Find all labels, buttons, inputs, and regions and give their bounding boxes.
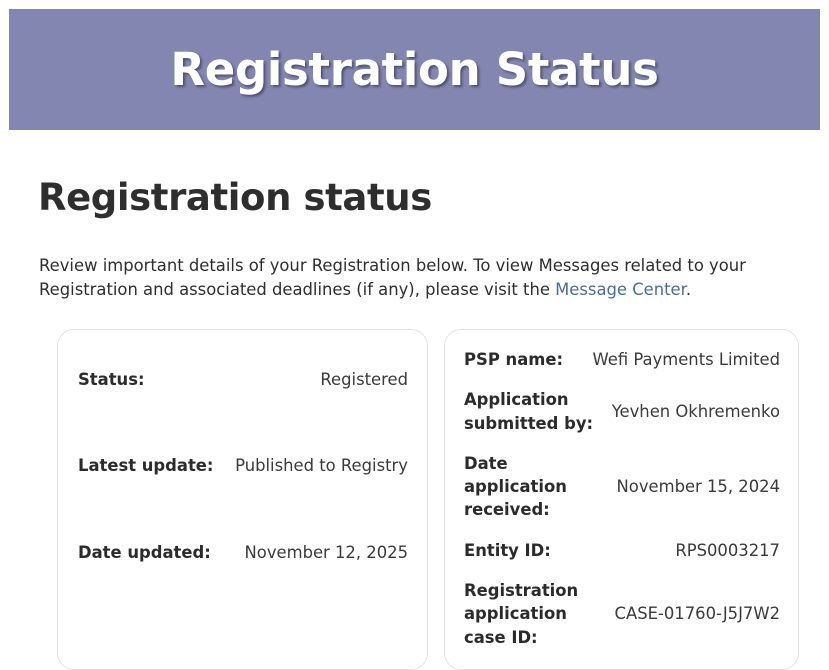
status-row: Status: Registered (78, 368, 408, 391)
date-updated-row-label: Date updated: (78, 541, 211, 564)
latest-update-row-label: Latest update: (78, 454, 213, 477)
page-title: Registration status (0, 130, 829, 219)
entity-id-row-label: Entity ID: (464, 539, 551, 562)
intro-text-after-link: . (686, 280, 691, 299)
page-banner: Registration Status (9, 9, 820, 130)
date-updated-row: Date updated: November 12, 2025 (78, 541, 408, 564)
page-content: Registration status Review important det… (0, 130, 829, 670)
registration-case-id-row-label: Registration application case ID: (464, 579, 601, 649)
latest-update-row: Latest update: Published to Registry (78, 454, 408, 477)
intro-paragraph: Review important details of your Registr… (0, 219, 829, 303)
date-application-received-row: Date application received: November 15, … (464, 452, 780, 522)
entity-id-row-value: RPS0003217 (675, 539, 780, 562)
details-card: PSP name: Wefi Payments Limited Applicat… (444, 329, 799, 670)
date-application-received-row-value: November 15, 2024 (617, 475, 780, 498)
banner-title: Registration Status (170, 47, 658, 92)
status-row-label: Status: (78, 368, 145, 391)
entity-id-row: Entity ID: RPS0003217 (464, 539, 780, 562)
psp-name-row-label: PSP name: (464, 348, 563, 371)
application-submitted-by-row-label: Application submitted by: (464, 388, 598, 435)
message-center-link[interactable]: Message Center (555, 280, 686, 299)
status-card: Status: Registered Latest update: Publis… (57, 329, 428, 670)
application-submitted-by-row: Application submitted by: Yevhen Okhreme… (464, 388, 780, 435)
psp-name-row: PSP name: Wefi Payments Limited (464, 348, 780, 371)
application-submitted-by-row-value: Yevhen Okhremenko (612, 400, 780, 423)
psp-name-row-value: Wefi Payments Limited (593, 348, 781, 371)
latest-update-row-value: Published to Registry (235, 454, 408, 477)
date-updated-row-value: November 12, 2025 (245, 541, 408, 564)
registration-case-id-row-value: CASE-01760-J5J7W2 (615, 602, 780, 625)
cards-container: Status: Registered Latest update: Publis… (0, 303, 829, 670)
status-row-value: Registered (320, 368, 408, 391)
date-application-received-row-label: Date application received: (464, 452, 603, 522)
registration-case-id-row: Registration application case ID: CASE-0… (464, 579, 780, 649)
